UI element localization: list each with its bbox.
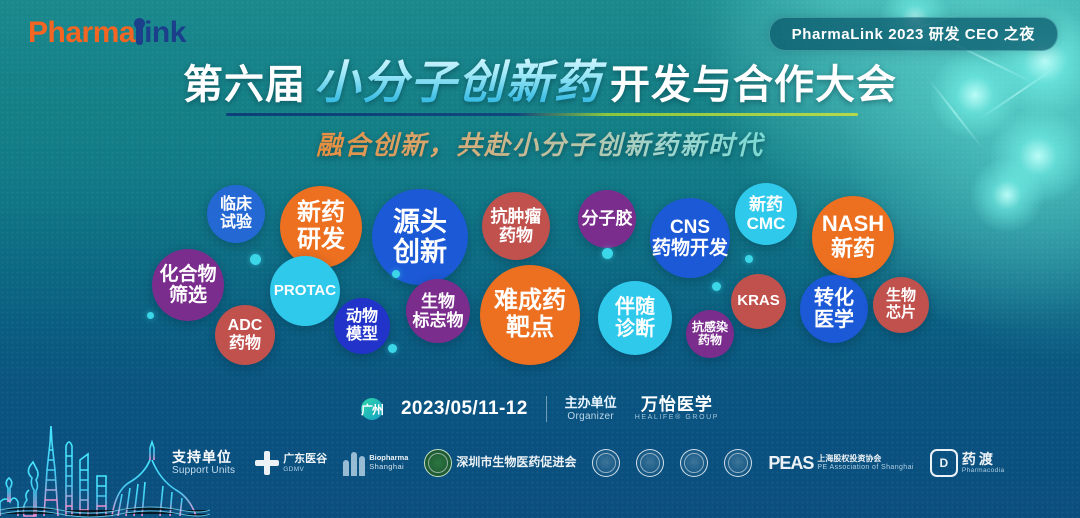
event-info-bar: 广州 2023/05/11-12 主办单位 Organizer 万怡医学 HEA… <box>0 393 1080 425</box>
sponsor-name-cn: 广东医谷 <box>283 453 327 466</box>
topic-bubble-label: 转化医学 <box>812 287 856 332</box>
sponsor-name-en: Shanghai <box>369 463 408 472</box>
seal-icon <box>680 449 708 477</box>
topic-bubble[interactable]: 新药研发 <box>280 186 362 268</box>
topic-bubble-label: 临床试验 <box>218 196 254 232</box>
topic-bubble[interactable]: 新药CMC <box>735 183 797 245</box>
sponsor-text: 深圳市生物医药促进会 <box>456 456 576 470</box>
topic-bubble-label: 分子胶 <box>580 209 635 228</box>
topic-bubble-label: 难成药靶点 <box>492 288 568 342</box>
sponsor-logo-shenzhen-biomed[interactable]: 深圳市生物医药促进会 <box>424 449 576 477</box>
topic-bubble-label: 新药CMC <box>745 195 788 233</box>
sponsor-text: 广东医谷 GDMV <box>283 453 327 473</box>
sponsor-seal-3[interactable] <box>680 449 708 477</box>
seal-icon <box>636 449 664 477</box>
topic-bubble[interactable]: NASH新药 <box>812 196 894 278</box>
cross-icon <box>255 451 279 475</box>
sponsor-name-en: PE Association of Shanghai <box>817 464 913 472</box>
topic-bubble-label: ADC药物 <box>226 317 265 353</box>
city-icon: 广州 <box>361 398 383 420</box>
decorative-dot <box>712 282 721 291</box>
topic-bubble[interactable]: 源头创新 <box>372 189 468 285</box>
organizer-logo: 万怡医学 HEALIFE® GROUP <box>635 396 719 421</box>
support-label-cn: 支持单位 <box>172 450 235 465</box>
sponsor-name-cn: 药渡 <box>962 451 1005 467</box>
sponsor-text: 药渡 Pharmacodia <box>962 451 1005 475</box>
sponsor-strip: 支持单位 Support Units 广东医谷 GDMV Biopharma S… <box>0 437 1080 489</box>
topic-bubble-label: 源头创新 <box>391 207 449 267</box>
topic-bubble[interactable]: 转化医学 <box>800 275 868 343</box>
sponsor-name-en: Pharmacodia <box>962 467 1005 474</box>
info-divider <box>546 396 547 422</box>
topic-bubble-label: 化合物筛选 <box>157 264 218 307</box>
decorative-dot <box>388 344 397 353</box>
sponsor-name-cn: 上海股权投资协会 <box>817 454 913 463</box>
peas-icon: PEAS <box>768 453 813 474</box>
topic-bubble-label: 抗感染药物 <box>690 321 730 348</box>
sponsor-name-cn: 深圳市生物医药促进会 <box>456 456 576 470</box>
topic-bubble[interactable]: 临床试验 <box>207 185 265 243</box>
topic-bubble-label: 抗肿瘤药物 <box>489 207 544 245</box>
event-date: 2023/05/11-12 <box>401 398 528 420</box>
decorative-dot <box>602 248 613 259</box>
sponsor-seal-1[interactable] <box>592 449 620 477</box>
topic-bubble[interactable]: 生物标志物 <box>406 279 470 343</box>
sponsor-logo-gdmv[interactable]: 广东医谷 GDMV <box>255 451 327 475</box>
sponsor-logo-peas[interactable]: PEAS 上海股权投资协会 PE Association of Shanghai <box>768 453 913 474</box>
sponsor-name-en: GDMV <box>283 466 327 473</box>
towers-icon <box>343 450 365 476</box>
sponsor-seal-4[interactable] <box>724 449 752 477</box>
conference-poster: Pharmaink PharmaLink 2023 研发 CEO 之夜 第六届小… <box>0 0 1080 518</box>
topic-bubble[interactable]: 分子胶 <box>578 190 636 248</box>
topic-bubble[interactable]: PROTAC <box>270 256 340 326</box>
topic-bubble[interactable]: 动物模型 <box>334 298 390 354</box>
topic-bubble-label: PROTAC <box>272 283 338 300</box>
organizer-label: 主办单位 Organizer <box>565 396 617 421</box>
organizer-name-en: HEALIFE® GROUP <box>635 414 719 421</box>
topic-bubble[interactable]: 难成药靶点 <box>480 265 580 365</box>
topic-bubble[interactable]: ADC药物 <box>215 305 275 365</box>
topic-bubble[interactable]: 化合物筛选 <box>152 249 224 321</box>
sponsor-text: 上海股权投资协会 PE Association of Shanghai <box>817 454 913 471</box>
topic-bubble-label: CNS药物开发 <box>650 217 730 260</box>
green-seal-icon <box>424 449 452 477</box>
topic-bubble[interactable]: 伴随诊断 <box>598 281 672 355</box>
topic-bubble-label: 生物标志物 <box>411 292 466 330</box>
decorative-dot <box>250 254 261 265</box>
topic-bubble-label: KRAS <box>735 293 782 310</box>
decorative-dot <box>147 312 154 319</box>
organizer-label-cn: 主办单位 <box>565 396 617 410</box>
sponsor-text: Biopharma Shanghai <box>369 454 408 471</box>
topic-bubble[interactable]: CNS药物开发 <box>650 198 730 278</box>
sponsor-logo-pharmacodia[interactable]: D 药渡 Pharmacodia <box>930 449 1005 477</box>
sponsor-seal-2[interactable] <box>636 449 664 477</box>
decorative-dot <box>392 270 400 278</box>
topic-bubble-label: 新药研发 <box>295 200 347 254</box>
topic-bubble-label: 生物芯片 <box>884 288 918 322</box>
topic-bubble-label: 伴随诊断 <box>613 296 657 341</box>
topic-bubble[interactable]: 抗肿瘤药物 <box>482 192 550 260</box>
topic-bubble[interactable]: 抗感染药物 <box>686 310 734 358</box>
support-units-label: 支持单位 Support Units <box>172 450 235 476</box>
topic-bubble-label: NASH新药 <box>820 212 886 261</box>
pharmacodia-icon: D <box>930 449 958 477</box>
topic-bubble-label: 动物模型 <box>344 308 380 344</box>
support-label-en: Support Units <box>172 465 235 476</box>
organizer-name-cn: 万怡医学 <box>635 396 719 414</box>
decorative-dot <box>745 255 753 263</box>
seal-icon <box>592 449 620 477</box>
organizer-label-en: Organizer <box>565 411 617 422</box>
topic-bubble[interactable]: KRAS <box>731 274 786 329</box>
topic-bubble[interactable]: 生物芯片 <box>873 277 929 333</box>
seal-icon <box>724 449 752 477</box>
sponsor-logo-biopharma-shanghai[interactable]: Biopharma Shanghai <box>343 450 408 476</box>
